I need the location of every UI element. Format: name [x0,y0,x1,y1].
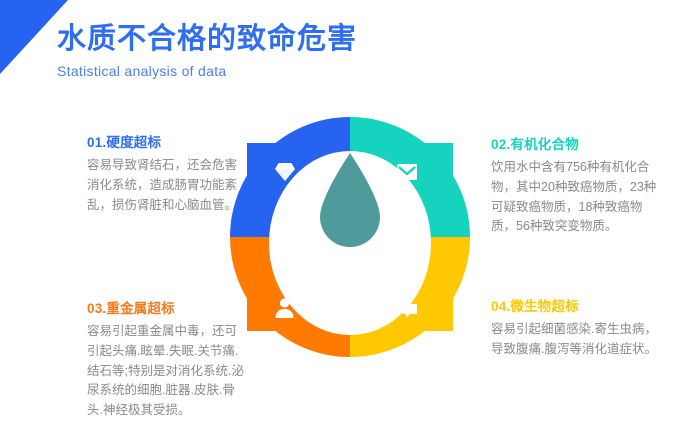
info-block-02: 02.有机化合物 饮用水中含有756种有机化合物，其中20种致癌物质，23种可疑… [491,133,666,237]
info-block-04-body: 容易引起细菌感染.寄生虫病，导致腹痛.腹泻等消化道症状。 [491,320,666,360]
chat-icon [395,297,418,318]
page-subtitle: Statistical analysis of data [57,63,357,79]
diamond-icon [274,162,296,182]
info-block-02-title: 02.有机化合物 [491,133,666,153]
info-block-01: 01.硬度超标 容易导致肾结石，还会危害消化系统，造成肠胃功能紊乱，损伤肾脏和心… [87,131,239,215]
info-block-02-body: 饮用水中含有756种有机化合物，其中20种致癌物质，23种可疑致癌物质，18种致… [491,158,666,237]
header: 水质不合格的致命危害 Statistical analysis of data [57,22,357,79]
info-block-01-title: 01.硬度超标 [87,131,239,151]
info-block-04: 04.微生物超标 容易引起细菌感染.寄生虫病，导致腹痛.腹泻等消化道症状。 [491,295,666,360]
mail-icon [396,162,418,182]
donut-chart [225,105,475,365]
info-block-04-title: 04.微生物超标 [491,295,666,315]
infographic-slide: 水质不合格的致命危害 Statistical analysis of data … [0,0,700,448]
page-title: 水质不合格的致命危害 [57,22,357,56]
person-icon [274,297,295,318]
center-graphic [225,105,475,365]
info-block-01-body: 容易导致肾结石，还会危害消化系统，造成肠胃功能紊乱，损伤肾脏和心脑血管。 [87,156,239,215]
